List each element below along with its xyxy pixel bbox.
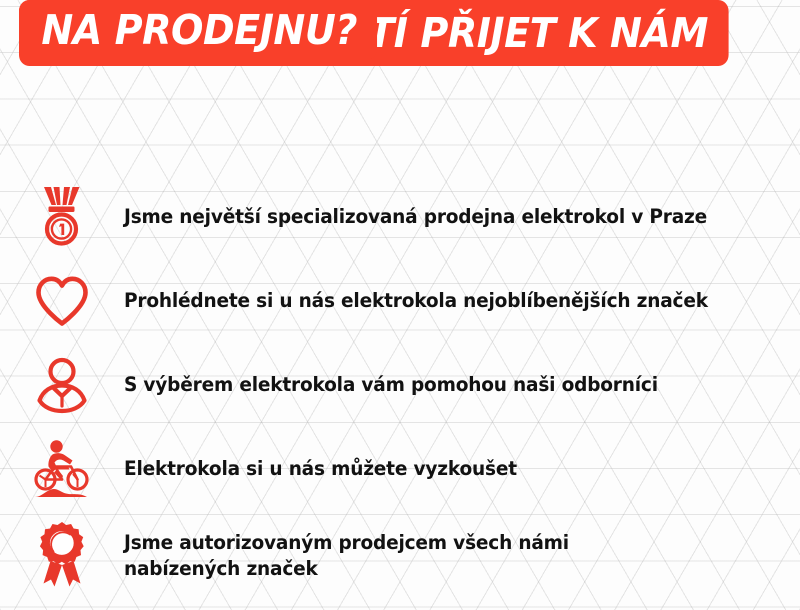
heart-outline-icon (0, 259, 124, 343)
headline-second: NA PRODEJNU? (19, 0, 404, 60)
benefit-row: Jsme autorizovaným prodejcem všech námi … (0, 511, 800, 601)
benefit-row: S výběrem elektrokola vám pomohou naši o… (0, 343, 800, 427)
benefit-text: Jsme autorizovaným prodejcem všech námi … (124, 530, 766, 582)
benefit-text: S výběrem elektrokola vám pomohou naši o… (124, 372, 766, 398)
award-rosette-icon (0, 514, 124, 598)
person-expert-icon (0, 343, 124, 427)
medal-first-place-icon (0, 175, 124, 259)
benefit-row: Jsme největší specializovaná prodejna el… (0, 175, 800, 259)
cyclist-on-hill-icon (0, 427, 124, 511)
promo-poster: PROČ SE VYPLATÍ PŘIJET K NÁM NA PRODEJNU… (0, 0, 800, 610)
benefit-list: Jsme největší specializovaná prodejna el… (0, 175, 800, 601)
benefit-text: Prohlédnete si u nás elektrokola nejoblí… (124, 288, 766, 314)
benefit-row: Prohlédnete si u nás elektrokola nejoblí… (0, 259, 800, 343)
benefit-text: Elektrokola si u nás můžete vyzkoušet (124, 456, 766, 482)
benefit-row: Elektrokola si u nás můžete vyzkoušet (0, 427, 800, 511)
benefit-text: Jsme největší specializovaná prodejna el… (124, 204, 766, 230)
headline-banner-line-2: NA PRODEJNU? (19, 0, 378, 60)
